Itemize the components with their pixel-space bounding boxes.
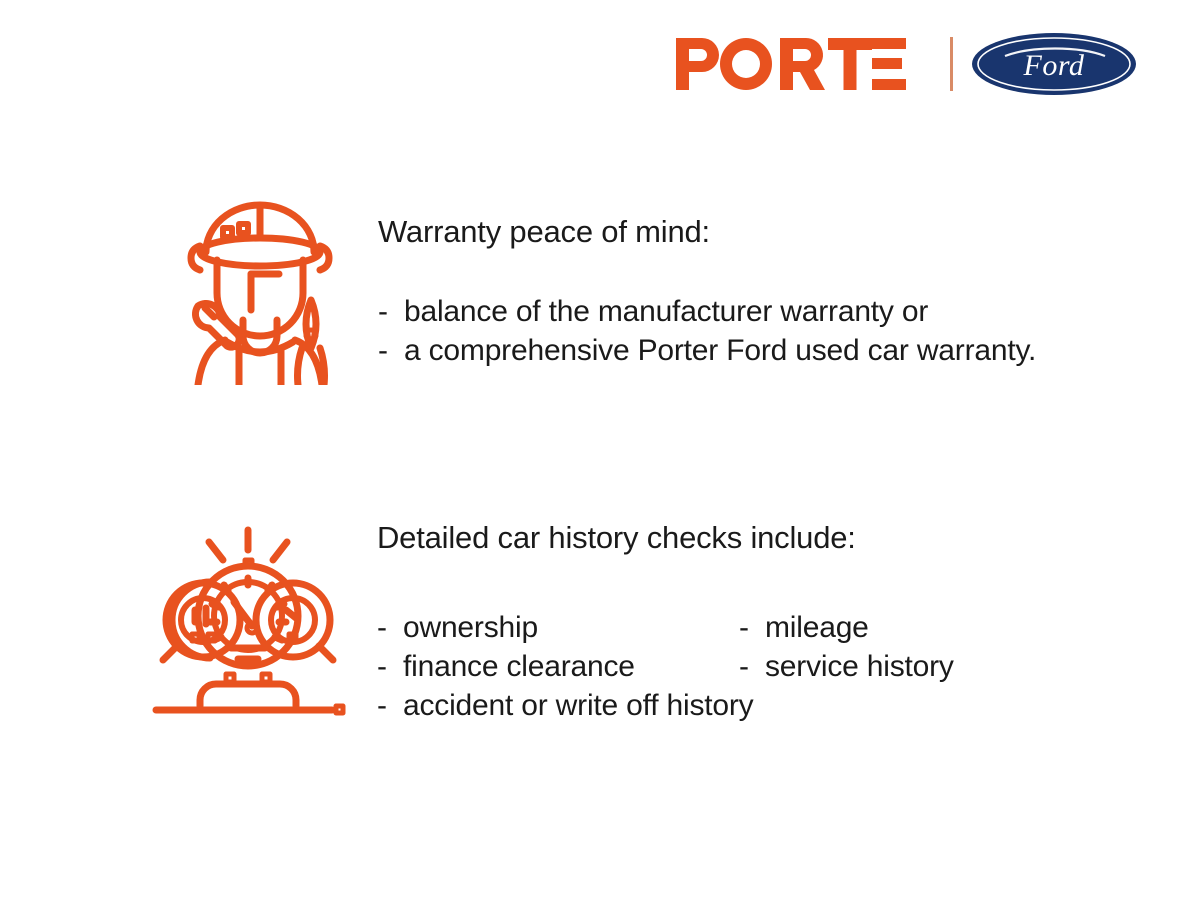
warranty-heading: Warranty peace of mind:: [378, 214, 1170, 250]
list-item: - accident or write off history: [377, 686, 1170, 725]
brand-header: Ford: [676, 28, 1146, 100]
logo-divider: [950, 37, 953, 91]
mechanic-with-tools-icon: [165, 190, 355, 385]
history-icon-slot: [140, 508, 355, 718]
list-item: - a comprehensive Porter Ford used car w…: [378, 331, 1170, 370]
history-column-left: - ownership - finance clearance: [377, 608, 739, 687]
history-bullet-columns: - ownership - finance clearance - mileag…: [377, 608, 1170, 687]
list-item: - ownership: [377, 608, 739, 647]
list-item: - service history: [739, 647, 954, 686]
porter-wordmark-logo: [676, 38, 934, 90]
warranty-icon-slot: [160, 186, 360, 385]
bullet-dash: -: [378, 331, 404, 370]
list-item: - mileage: [739, 608, 954, 647]
bullet-dash: -: [378, 292, 404, 331]
bullet-text: balance of the manufacturer warranty or: [404, 292, 928, 331]
svg-text:Ford: Ford: [1023, 49, 1085, 82]
list-item: - balance of the manufacturer warranty o…: [378, 292, 1170, 331]
warranty-text-slot: Warranty peace of mind: - balance of the…: [360, 186, 1170, 370]
car-dashboard-gauges-icon: [148, 522, 348, 718]
history-bullet-list: - ownership - finance clearance - mileag…: [377, 608, 1170, 726]
bullet-dash: -: [739, 608, 765, 647]
bullet-dash: -: [739, 647, 765, 686]
bullet-text: service history: [765, 647, 954, 686]
ford-oval-logo: Ford: [971, 32, 1137, 96]
history-checks-section: Detailed car history checks include: - o…: [140, 508, 1170, 726]
bullet-text: mileage: [765, 608, 869, 647]
warranty-section: Warranty peace of mind: - balance of the…: [160, 186, 1170, 385]
bullet-text: finance clearance: [403, 647, 635, 686]
history-column-right: - mileage - service history: [739, 608, 954, 687]
bullet-text: a comprehensive Porter Ford used car war…: [404, 331, 1036, 370]
bullet-dash: -: [377, 647, 403, 686]
bullet-dash: -: [377, 608, 403, 647]
list-item: - finance clearance: [377, 647, 739, 686]
history-full-width-row: - accident or write off history: [377, 686, 1170, 725]
warranty-bullet-list: - balance of the manufacturer warranty o…: [378, 292, 1170, 371]
bullet-text: accident or write off history: [403, 686, 753, 725]
bullet-dash: -: [377, 686, 403, 725]
history-checks-heading: Detailed car history checks include:: [377, 520, 1170, 556]
bullet-text: ownership: [403, 608, 538, 647]
history-text-slot: Detailed car history checks include: - o…: [355, 508, 1170, 726]
